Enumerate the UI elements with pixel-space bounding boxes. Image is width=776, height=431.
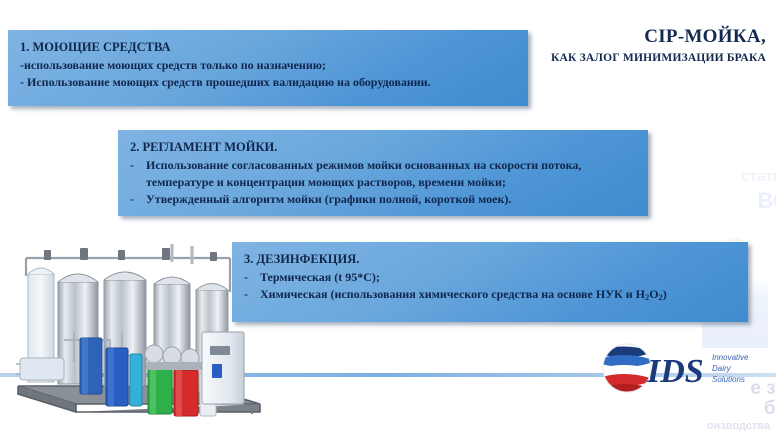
logo-tagline-1: Innovative	[712, 353, 749, 362]
logo-tagline-3: Solutions	[712, 375, 745, 384]
box-3-bullet-2-suffix: )	[663, 287, 667, 301]
box-3-bullet-list: - Термическая (t 95*C); - Химическая (ис…	[244, 269, 736, 303]
box-1-line-2: - Использование моющих средств прошедших…	[20, 74, 516, 91]
content-box-3: 3. ДЕЗИНФЕКЦИЯ. - Термическая (t 95*C); …	[232, 242, 748, 322]
logo-tagline-2: Dairy	[712, 364, 732, 373]
slide-title-block: CIP-МОЙКА, КАК ЗАЛОГ МИНИМИЗАЦИИ БРАКА	[551, 26, 766, 64]
box-2-bullet-list: - Использование согласованных режимов мо…	[130, 157, 636, 208]
page-subtitle: КАК ЗАЛОГ МИНИМИЗАЦИИ БРАКА	[551, 52, 766, 64]
page-title: CIP-МОЙКА,	[551, 26, 766, 48]
box-2-bullet-2-text: Утвержденный алгоритм мойки (графики пол…	[146, 191, 636, 208]
box-3-bullet-2-prefix: Химическая (использования химического ср…	[260, 287, 645, 301]
box-2-bullet-1-text: Использование согласованных режимов мойк…	[146, 157, 636, 191]
box-3-bullet-2: - Химическая (использования химического …	[244, 286, 736, 303]
ids-logo: IDS Innovative Dairy Solutions	[600, 342, 766, 394]
box-1-heading: 1. МОЮЩИЕ СРЕДСТВА	[20, 39, 516, 55]
ghost-text-fragment-4: бот	[764, 398, 776, 420]
slide-canvas: стати ВО е за бот оизводства CIP-МОЙКА, …	[0, 0, 776, 431]
content-box-2: 2. РЕГЛАМЕНТ МОЙКИ. - Использование согл…	[118, 130, 648, 216]
ids-wordmark: IDS	[646, 353, 704, 390]
content-box-1: 1. МОЮЩИЕ СРЕДСТВА -использование моющих…	[8, 30, 528, 106]
box-1-line-1: -использование моющих средств только по …	[20, 57, 516, 74]
box-2-heading: 2. РЕГЛАМЕНТ МОЙКИ.	[130, 139, 636, 155]
bullet-dash-icon: -	[130, 157, 146, 191]
box-3-bullet-1-text: Термическая (t 95*C);	[260, 269, 736, 286]
chem-symbol-o: O	[649, 287, 658, 301]
box-2-bullet-1: - Использование согласованных режимов мо…	[130, 157, 636, 191]
box-3-heading: 3. ДЕЗИНФЕКЦИЯ.	[244, 251, 736, 267]
bullet-dash-icon: -	[244, 269, 260, 286]
cip-station-illustration	[14, 236, 266, 422]
box-2-bullet-2: - Утвержденный алгоритм мойки (графики п…	[130, 191, 636, 208]
ghost-text-fragment-2: ВО	[758, 188, 776, 214]
box-3-bullet-2-text: Химическая (использования химического ср…	[260, 286, 736, 303]
box-3-bullet-1: - Термическая (t 95*C);	[244, 269, 736, 286]
bullet-dash-icon: -	[244, 286, 260, 303]
ghost-text-fragment-5: оизводства	[707, 420, 770, 431]
ghost-text-fragment-1: стати	[741, 168, 776, 185]
bullet-dash-icon: -	[130, 191, 146, 208]
